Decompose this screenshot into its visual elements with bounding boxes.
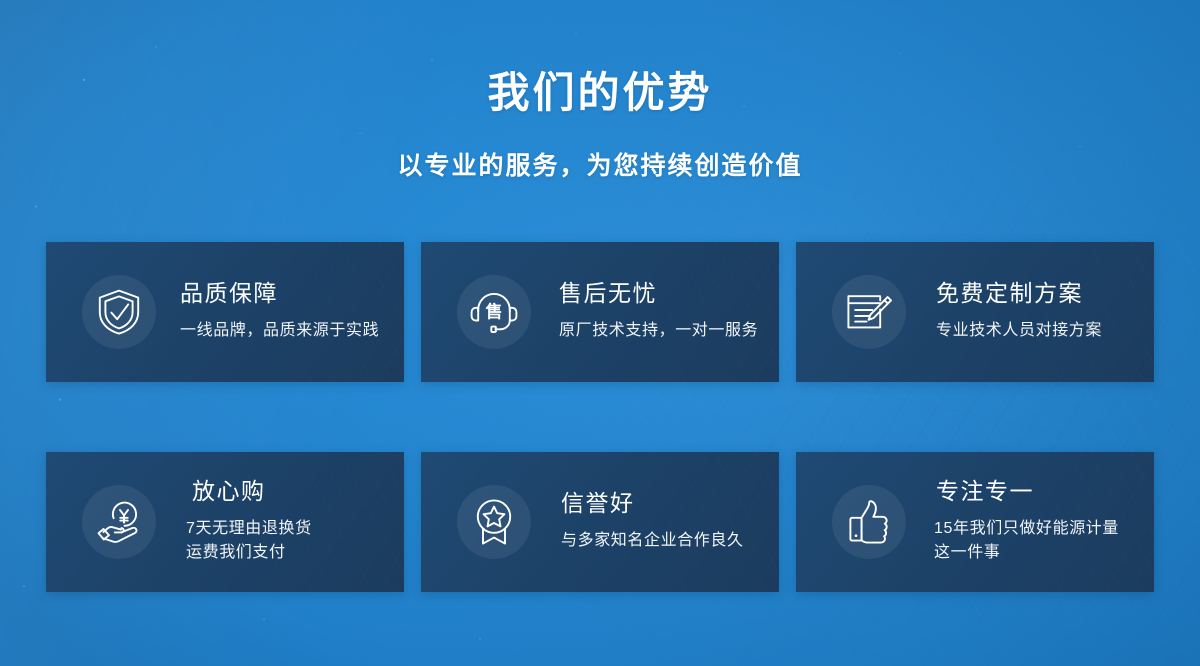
advantage-card-title: 品质保障 xyxy=(180,280,379,308)
advantage-card-grid: 品质保障 一线品牌，品质来源于实践 售 售后无忧 xyxy=(46,242,1154,592)
advantage-desc-line: 运费我们支付 xyxy=(186,541,312,566)
page-subtitle: 以专业的服务，为您持续创造价值 xyxy=(0,146,1200,182)
advantage-desc-line: 一线品牌，品质来源于实践 xyxy=(180,319,379,344)
advantage-card-title: 信誉好 xyxy=(561,490,744,518)
advantage-card-desc: 一线品牌，品质来源于实践 xyxy=(180,319,379,344)
advantage-desc-line: 15年我们只做好能源计量 xyxy=(934,517,1119,542)
advantage-card-safe-purchase[interactable]: 放心购 7天无理由退换货 运费我们支付 xyxy=(46,452,404,592)
hand-yen-coin-icon xyxy=(82,485,156,559)
advantage-card-text: 免费定制方案 专业技术人员对接方案 xyxy=(936,280,1116,343)
headset-icon-glyph: 售 xyxy=(486,301,503,321)
advantage-card-desc: 15年我们只做好能源计量 这一件事 xyxy=(934,517,1119,567)
advantage-desc-line: 与多家知名企业合作良久 xyxy=(561,529,744,554)
shield-check-icon xyxy=(82,275,156,349)
advantage-card-focus[interactable]: 专注专一 15年我们只做好能源计量 这一件事 xyxy=(796,452,1154,592)
advantage-card-text: 信誉好 与多家知名企业合作良久 xyxy=(561,490,758,553)
advantage-card-reputation[interactable]: 信誉好 与多家知名企业合作良久 xyxy=(421,452,779,592)
advantage-card-desc: 与多家知名企业合作良久 xyxy=(561,529,744,554)
advantage-desc-line: 7天无理由退换货 xyxy=(186,517,312,542)
advantage-card-desc: 7天无理由退换货 运费我们支付 xyxy=(186,517,312,567)
advantage-card-text: 放心购 7天无理由退换货 运费我们支付 xyxy=(186,478,326,566)
advantage-desc-line: 原厂技术支持，一对一服务 xyxy=(559,319,758,344)
advantage-card-quality[interactable]: 品质保障 一线品牌，品质来源于实践 xyxy=(46,242,404,382)
advantage-card-custom-plan[interactable]: 免费定制方案 专业技术人员对接方案 xyxy=(796,242,1154,382)
advantage-card-text: 专注专一 15年我们只做好能源计量 这一件事 xyxy=(934,478,1133,566)
advantage-card-text: 售后无忧 原厂技术支持，一对一服务 xyxy=(559,280,772,343)
headset-service-icon: 售 xyxy=(457,275,531,349)
advantage-card-title: 放心购 xyxy=(192,478,312,506)
advantage-card-desc: 原厂技术支持，一对一服务 xyxy=(559,319,758,344)
advantage-card-title: 售后无忧 xyxy=(559,280,758,308)
advantage-card-text: 品质保障 一线品牌，品质来源于实践 xyxy=(180,280,393,343)
advantage-card-desc: 专业技术人员对接方案 xyxy=(936,319,1102,344)
medal-star-ribbon-icon xyxy=(457,485,531,559)
section-heading: 我们的优势 以专业的服务，为您持续创造价值 xyxy=(0,0,1200,182)
advantage-card-title: 专注专一 xyxy=(936,478,1119,506)
page-title: 我们的优势 xyxy=(0,70,1200,116)
advantage-card-title: 免费定制方案 xyxy=(936,280,1102,308)
document-pencil-icon xyxy=(832,275,906,349)
thumbs-up-icon xyxy=(832,485,906,559)
advantages-section: 我们的优势 以专业的服务，为您持续创造价值 品质保障 一线品牌，品质来源于实践 xyxy=(0,0,1200,666)
advantage-desc-line: 专业技术人员对接方案 xyxy=(936,319,1102,344)
advantage-card-aftersales[interactable]: 售 售后无忧 原厂技术支持，一对一服务 xyxy=(421,242,779,382)
advantage-desc-line: 这一件事 xyxy=(934,541,1119,566)
